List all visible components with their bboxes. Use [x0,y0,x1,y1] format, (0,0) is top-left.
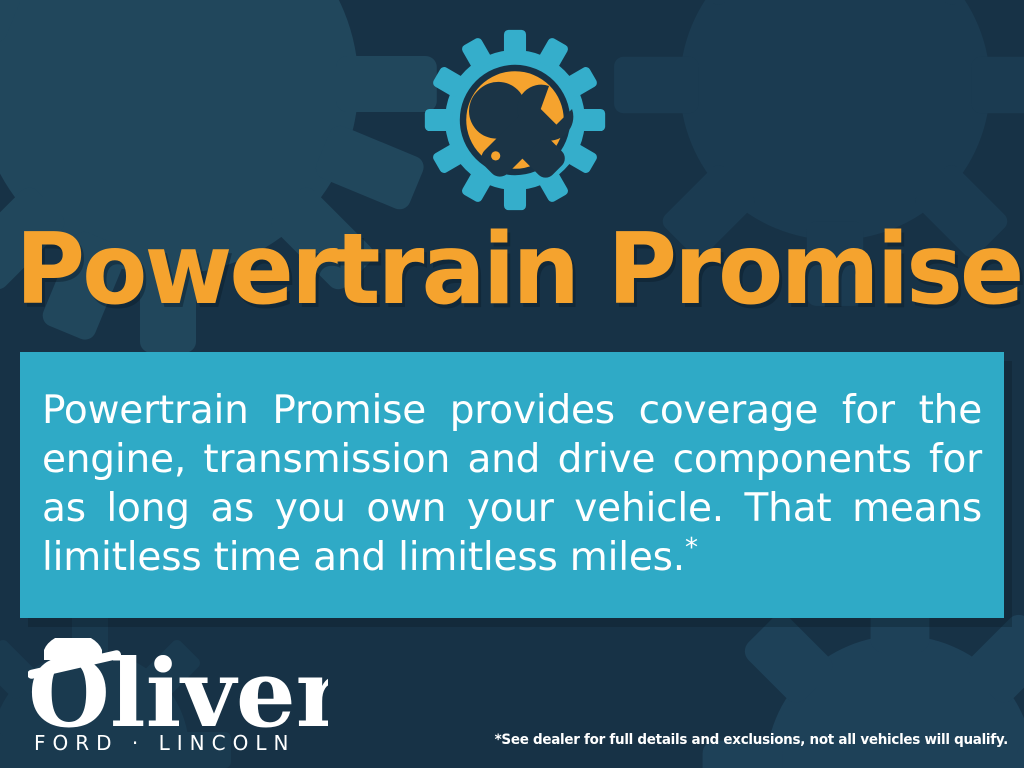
dealer-logo: Oliver FORD · LINCOLN [28,638,328,756]
body-copy: Powertrain Promise provides coverage for… [42,386,982,582]
page-title: Powertrain Promise [15,222,1008,318]
body-paragraph-text: Powertrain Promise provides coverage for… [42,388,982,580]
footnote-marker: * [685,533,698,563]
body-panel: Powertrain Promise provides coverage for… [20,352,1004,618]
powertrain-promise-poster: Powertrain Promise Powertrain Promise pr… [0,0,1024,768]
gear-icon [423,28,607,212]
disclaimer-text: *See dealer for full details and exclusi… [495,732,1008,748]
logo-subtitle: FORD · LINCOLN [34,731,295,755]
